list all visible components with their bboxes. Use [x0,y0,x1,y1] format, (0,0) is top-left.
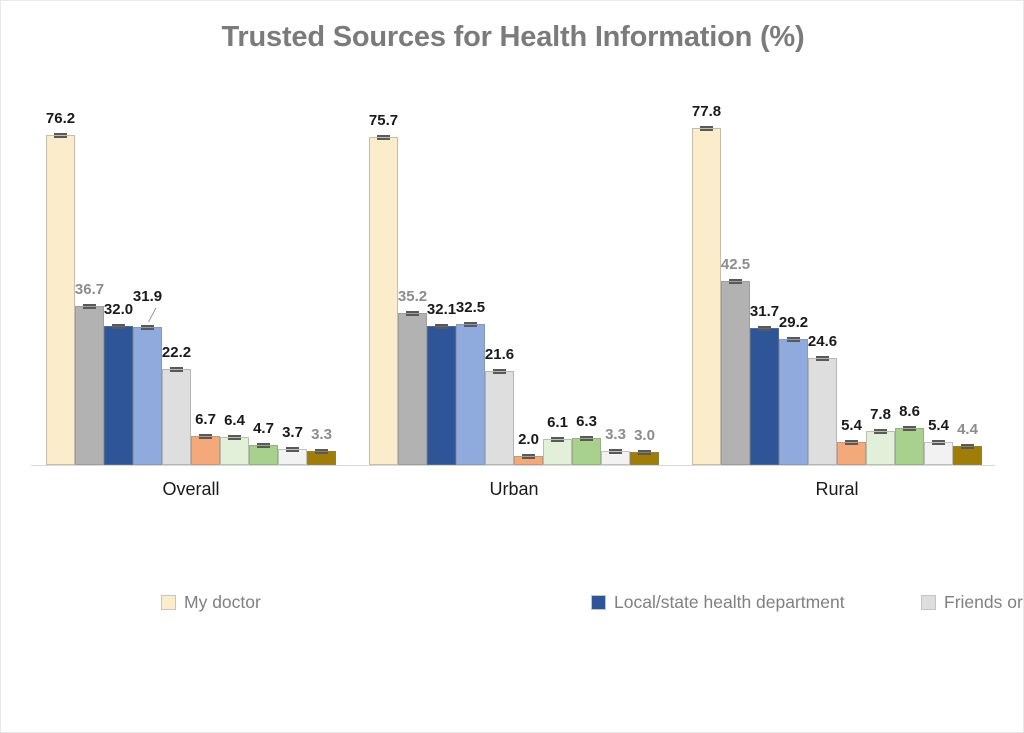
error-bar [845,440,858,445]
bar-slot: 24.6 [808,97,837,465]
bar-slot: 6.4 [220,97,249,465]
error-bar [816,356,829,361]
error-bar [377,135,390,140]
error-bar [54,133,67,138]
bar-value-label: 3.3 [292,426,352,443]
bar-slot: 32.1 [427,97,456,465]
bar-slot: 2.0 [514,97,543,465]
bar-slot: 77.8 [692,97,721,465]
bar-slot: 21.6 [485,97,514,465]
bar[interactable] [191,436,220,465]
bar[interactable] [104,326,133,465]
bar[interactable] [75,306,104,465]
bar-slot: 31.9 [133,97,162,465]
bar-slot: 35.2 [398,97,427,465]
error-bar [932,440,945,445]
error-bar [700,126,713,131]
legend-swatch-icon [921,595,936,610]
legend-label: Local/state health department [614,592,845,613]
error-bar [199,434,212,439]
bar-slot: 4.7 [249,97,278,465]
plot-area: 76.236.732.031.922.26.76.44.73.73.375.73… [31,96,995,466]
bar-slot: 6.1 [543,97,572,465]
chart-canvas: Trusted Sources for Health Information (… [0,0,1024,733]
label-leader-line [148,308,156,323]
error-bar [638,450,651,455]
bar[interactable] [779,339,808,465]
category-label-urban: Urban [364,479,664,500]
error-bar [522,454,535,459]
bar-slot: 8.6 [895,97,924,465]
bar[interactable] [692,128,721,465]
x-axis-line [31,465,995,466]
bar-slot: 42.5 [721,97,750,465]
bar[interactable] [866,431,895,465]
bar-slot: 29.2 [779,97,808,465]
bar-value-label: 3.0 [615,427,675,444]
bar[interactable] [398,313,427,465]
bar[interactable] [485,371,514,465]
bar[interactable] [837,442,866,465]
error-bar [609,449,622,454]
bar-slot: 32.5 [456,97,485,465]
legend-item[interactable]: Local/state health department [591,589,921,616]
error-bar [112,324,125,329]
legend-swatch-icon [591,595,606,610]
bar-slot: 3.3 [307,97,336,465]
category-label-rural: Rural [687,479,987,500]
bar-slot: 4.4 [953,97,982,465]
bar-slot: 32.0 [104,97,133,465]
error-bar [257,443,270,448]
bar-slot: 3.0 [630,97,659,465]
bar[interactable] [750,328,779,465]
error-bar [464,322,477,327]
bar-slot: 31.7 [750,97,779,465]
error-bar [141,325,154,330]
legend-label: My doctor [184,592,261,613]
bar-slot: 36.7 [75,97,104,465]
chart-title: Trusted Sources for Health Information (… [1,21,1024,54]
error-bar [551,437,564,442]
legend-swatch-icon [161,595,176,610]
error-bar [874,429,887,434]
category-label-overall: Overall [41,479,341,500]
bar-slot: 75.7 [369,97,398,465]
error-bar [170,367,183,372]
error-bar [493,369,506,374]
bar-slot: 5.4 [924,97,953,465]
bar[interactable] [220,437,249,465]
chart-legend: My doctorLocal/state health departmentFr… [161,589,921,616]
bar[interactable] [543,439,572,465]
bar-slot: 6.3 [572,97,601,465]
bar[interactable] [249,445,278,465]
error-bar [315,449,328,454]
error-bar [435,324,448,329]
error-bar [286,447,299,452]
bar-slot: 22.2 [162,97,191,465]
error-bar [729,279,742,284]
bar[interactable] [427,326,456,465]
legend-label: Friends or Family [944,592,1024,613]
bar[interactable] [924,442,953,465]
bar-slot: 3.3 [601,97,630,465]
bar-value-label: 4.4 [938,421,998,438]
bar[interactable] [46,135,75,465]
legend-item[interactable]: Friends or Family [921,589,1024,616]
error-bar [961,444,974,449]
bar-slot: 3.7 [278,97,307,465]
bar[interactable] [808,358,837,465]
legend-item[interactable]: My doctor [161,589,591,616]
bar-slot: 6.7 [191,97,220,465]
